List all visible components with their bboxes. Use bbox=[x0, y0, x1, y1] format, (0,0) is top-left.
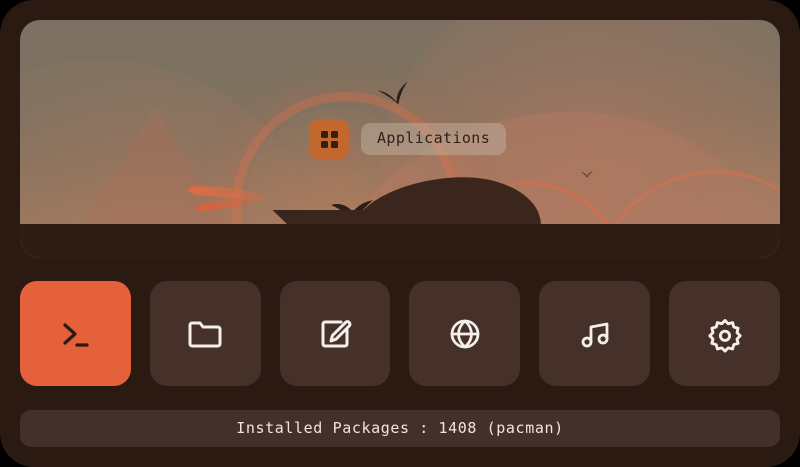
dock-item-terminal[interactable] bbox=[20, 281, 131, 386]
dock-item-editor[interactable] bbox=[280, 281, 391, 386]
bird-icon bbox=[580, 170, 594, 179]
dock-item-music[interactable] bbox=[539, 281, 650, 386]
bird-icon bbox=[378, 82, 412, 106]
dock bbox=[20, 281, 780, 386]
edit-square-icon bbox=[314, 313, 356, 355]
dock-item-files[interactable] bbox=[150, 281, 261, 386]
dock-item-browser[interactable] bbox=[409, 281, 520, 386]
dock-item-settings[interactable] bbox=[669, 281, 780, 386]
applications-launcher-button[interactable] bbox=[309, 119, 349, 159]
applications-launcher[interactable]: Applications bbox=[309, 119, 506, 159]
status-bar: Installed Packages : 1408 (pacman) bbox=[20, 410, 780, 447]
terminal-icon bbox=[54, 313, 96, 355]
music-note-icon bbox=[574, 313, 616, 355]
folder-icon bbox=[184, 313, 226, 355]
wallpaper-ridge bbox=[20, 224, 780, 258]
installed-packages-status: Installed Packages : 1408 (pacman) bbox=[236, 421, 563, 436]
gear-icon bbox=[704, 313, 746, 355]
applications-launcher-label[interactable]: Applications bbox=[361, 123, 506, 155]
grid-icon bbox=[321, 131, 338, 148]
globe-icon bbox=[444, 313, 486, 355]
desktop-frame: Applications bbox=[0, 0, 800, 467]
